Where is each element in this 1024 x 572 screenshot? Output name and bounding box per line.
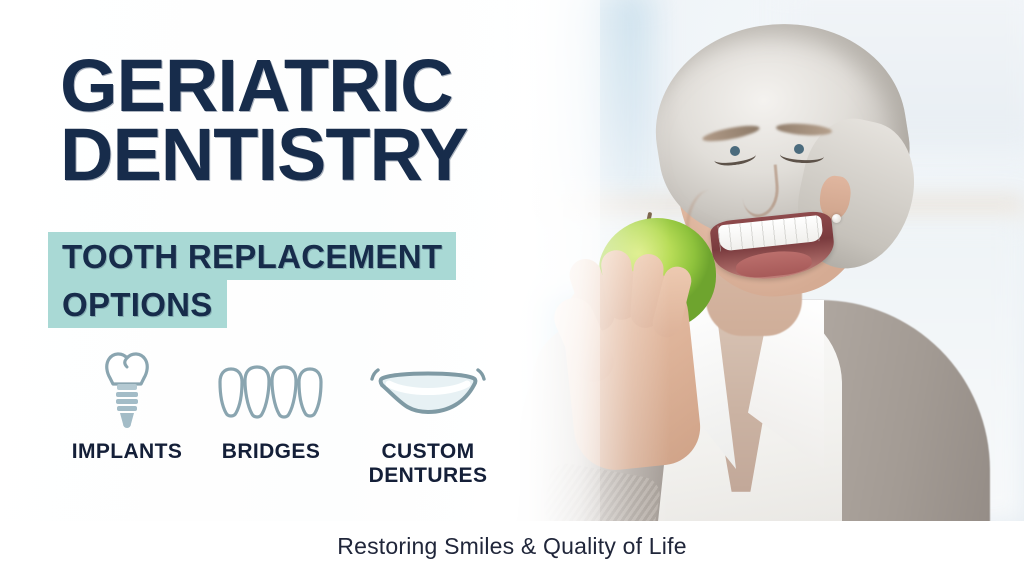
footer-tagline: Restoring Smiles & Quality of Life bbox=[337, 533, 686, 560]
subheadline-line-1: TOOTH REPLACEMENT bbox=[48, 232, 456, 280]
pupil-right bbox=[794, 144, 804, 154]
teeth bbox=[717, 215, 823, 252]
dental-bridge-icon bbox=[216, 352, 326, 430]
subheadline: TOOTH REPLACEMENT OPTIONS bbox=[48, 232, 456, 328]
denture-smile-icon bbox=[369, 352, 487, 430]
service-label: BRIDGES bbox=[222, 440, 320, 464]
headline-line-2: DENTISTRY bbox=[60, 121, 468, 190]
service-label: IMPLANTS bbox=[72, 440, 183, 464]
service-bridges[interactable]: BRIDGES bbox=[202, 352, 340, 464]
services-row: IMPLANTS BRIDGES bbox=[52, 352, 532, 488]
dental-implant-icon bbox=[96, 352, 158, 430]
pupil-left bbox=[730, 146, 740, 156]
pearl-earring bbox=[832, 214, 841, 223]
service-implants[interactable]: IMPLANTS bbox=[52, 352, 202, 464]
left-text-panel: GERIATRIC DENTISTRY TOOTH REPLACEMENT OP… bbox=[0, 0, 600, 521]
subheadline-line-2: OPTIONS bbox=[48, 280, 227, 328]
footer-bar: Restoring Smiles & Quality of Life bbox=[0, 521, 1024, 572]
service-label: CUSTOM DENTURES bbox=[369, 440, 488, 488]
geriatric-dentistry-banner: GERIATRIC DENTISTRY TOOTH REPLACEMENT OP… bbox=[0, 0, 1024, 572]
page-title: GERIATRIC DENTISTRY bbox=[60, 52, 468, 190]
service-custom-dentures[interactable]: CUSTOM DENTURES bbox=[340, 352, 516, 488]
